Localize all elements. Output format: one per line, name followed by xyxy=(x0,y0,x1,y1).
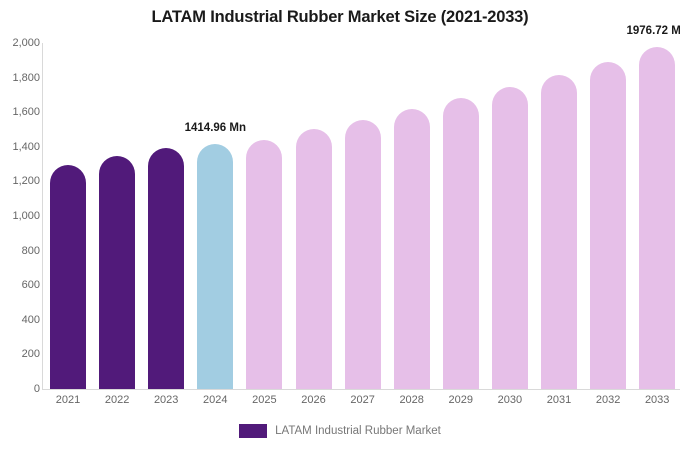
bar-2023[interactable] xyxy=(148,148,184,389)
bar-2021[interactable] xyxy=(50,165,86,389)
bar-2033[interactable] xyxy=(639,47,675,389)
bar-2024[interactable] xyxy=(197,144,233,389)
bar-2028[interactable] xyxy=(394,109,430,389)
bar-2027[interactable] xyxy=(345,120,381,389)
legend-item-label: LATAM Industrial Rubber Market xyxy=(275,425,441,437)
chart-legend: LATAM Industrial Rubber Market xyxy=(0,424,680,438)
bar-2029[interactable] xyxy=(443,98,479,389)
bar-2032[interactable] xyxy=(590,62,626,389)
bar-2030[interactable] xyxy=(492,87,528,389)
data-label-2024: 1414.96 Mn xyxy=(177,122,253,134)
legend-color-swatch xyxy=(239,424,267,438)
chart-container: LATAM Industrial Rubber Market Size (202… xyxy=(0,0,680,450)
data-label-2033: 1976.72 Mn xyxy=(619,25,680,37)
bars-layer: 20212022202320241414.96 Mn20252026202720… xyxy=(0,0,680,450)
x-axis-tick-label: 2033 xyxy=(627,394,680,406)
bar-2026[interactable] xyxy=(296,129,332,389)
bar-2025[interactable] xyxy=(246,140,282,389)
bar-2031[interactable] xyxy=(541,75,577,389)
bar-2022[interactable] xyxy=(99,156,135,389)
legend-item[interactable]: LATAM Industrial Rubber Market xyxy=(239,424,441,438)
